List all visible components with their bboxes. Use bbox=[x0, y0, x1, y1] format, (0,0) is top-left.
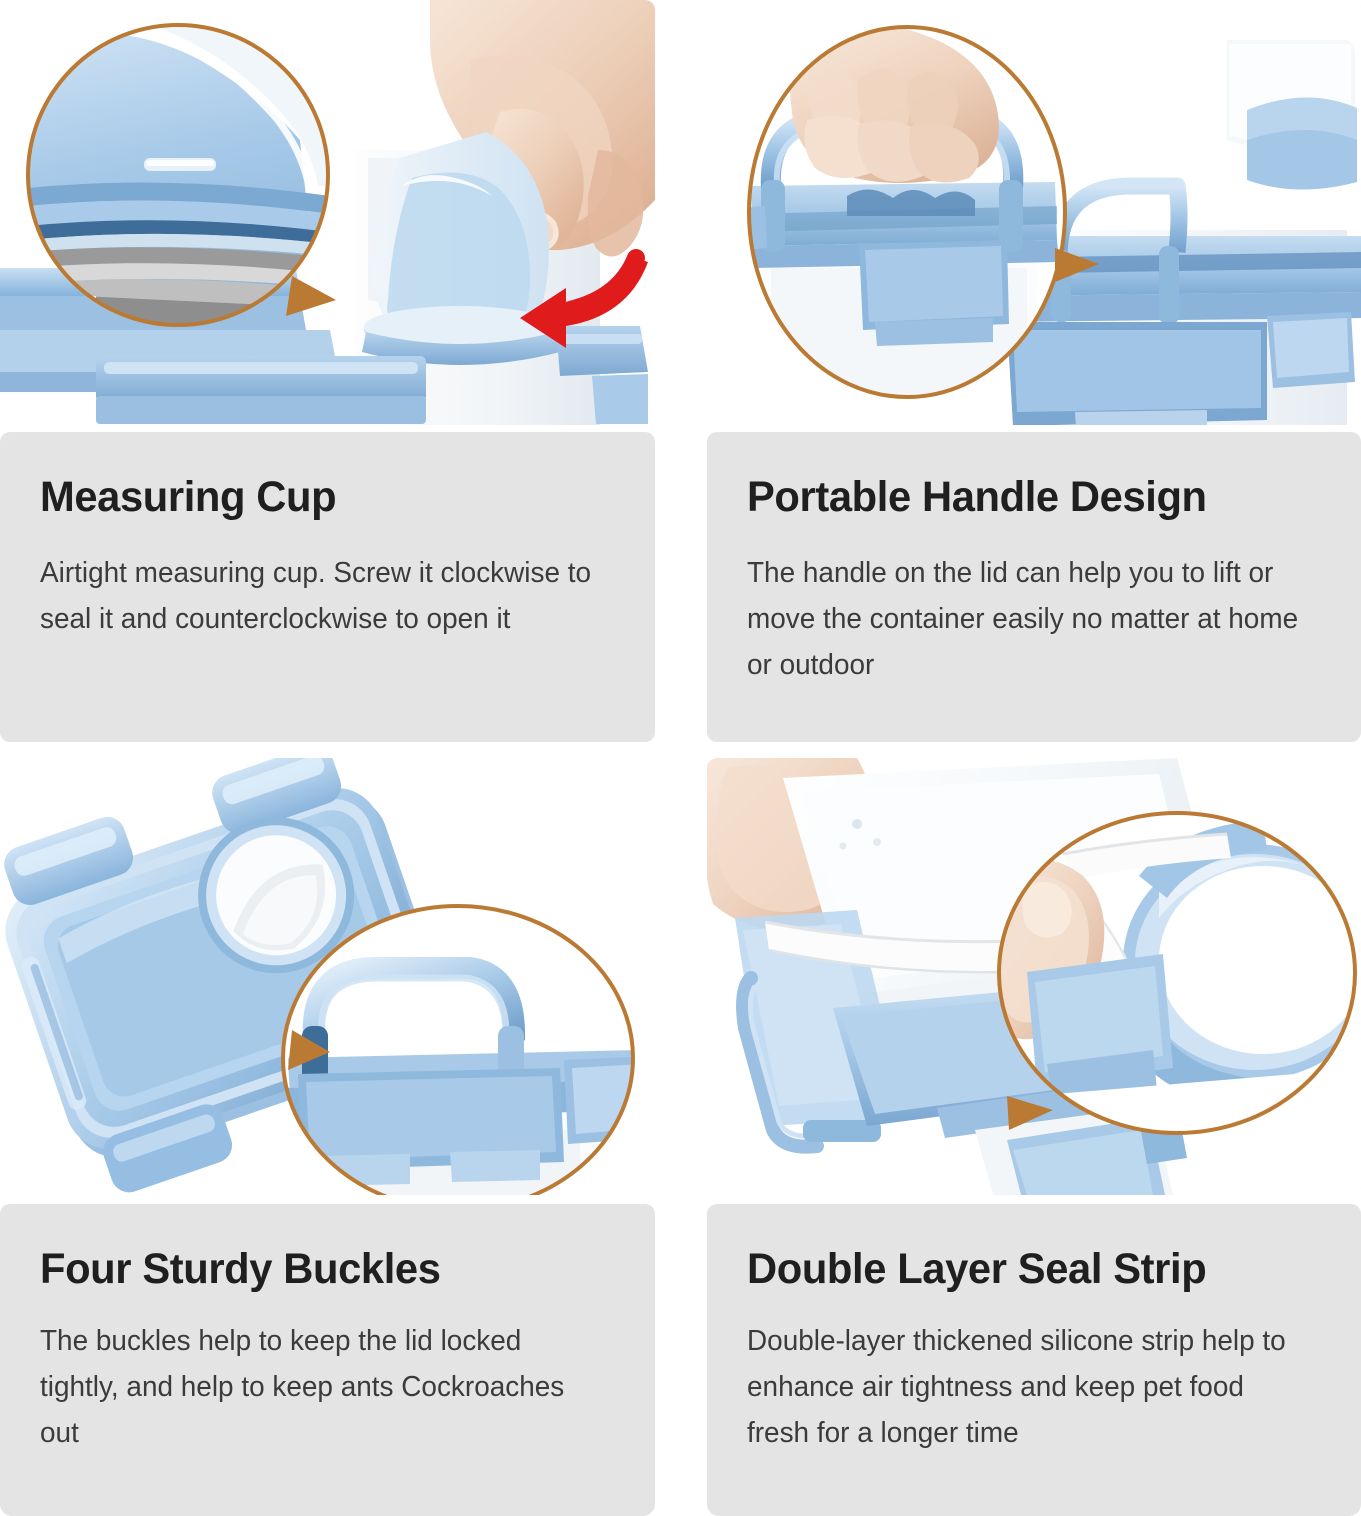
feature-description: Airtight measuring cup. Screw it clockwi… bbox=[40, 550, 604, 642]
feature-title: Four Sturdy Buckles bbox=[40, 1248, 598, 1292]
measuring-cup-photo bbox=[0, 0, 655, 425]
seal-strip-photo bbox=[707, 758, 1361, 1195]
four-buckles-photo bbox=[0, 758, 655, 1195]
feature-card-portable-handle-design: Portable Handle Design The handle on the… bbox=[707, 0, 1361, 742]
caption-four-sturdy-buckles: Four Sturdy Buckles The buckles help to … bbox=[0, 1204, 655, 1516]
feature-card-measuring-cup: Measuring Cup Airtight measuring cup. Sc… bbox=[0, 0, 655, 742]
feature-description: Double-layer thickened silicone strip he… bbox=[747, 1318, 1310, 1456]
feature-title: Measuring Cup bbox=[40, 476, 598, 520]
feature-description: The handle on the lid can help you to li… bbox=[747, 550, 1310, 688]
feature-card-four-sturdy-buckles: Four Sturdy Buckles The buckles help to … bbox=[0, 758, 655, 1516]
feature-title: Portable Handle Design bbox=[747, 476, 1304, 520]
portable-handle-photo bbox=[707, 0, 1361, 425]
feature-card-double-layer-seal-strip: Double Layer Seal Strip Double-layer thi… bbox=[707, 758, 1361, 1516]
caption-measuring-cup: Measuring Cup Airtight measuring cup. Sc… bbox=[0, 432, 655, 742]
feature-title: Double Layer Seal Strip bbox=[747, 1248, 1304, 1292]
caption-portable-handle-design: Portable Handle Design The handle on the… bbox=[707, 432, 1361, 742]
caption-double-layer-seal-strip: Double Layer Seal Strip Double-layer thi… bbox=[707, 1204, 1361, 1516]
feature-description: The buckles help to keep the lid locked … bbox=[40, 1318, 604, 1456]
feature-grid: Measuring Cup Airtight measuring cup. Sc… bbox=[0, 0, 1361, 1500]
